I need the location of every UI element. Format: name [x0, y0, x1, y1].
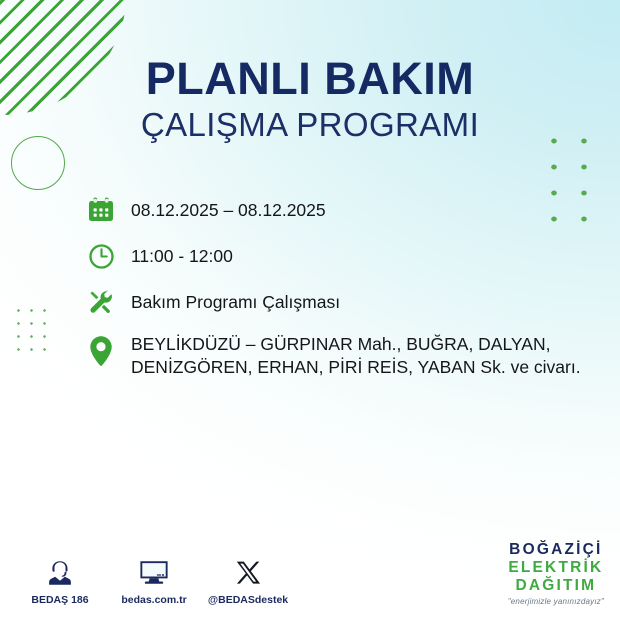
- page-title: PLANLI BAKIM ÇALIŞMA PROGRAMI: [0, 56, 620, 143]
- brand-line-dagitim: DAĞITIM: [508, 577, 604, 595]
- dot-grid-left-decoration: [10, 302, 56, 360]
- brand-line-elektrik: ELEKTRİK: [508, 559, 604, 577]
- time-range-text: 11:00 - 12:00: [131, 239, 233, 268]
- monitor-icon: [138, 555, 170, 587]
- contact-website[interactable]: bedas.com.tr: [118, 555, 190, 606]
- outage-details-list: 08.12.2025 – 08.12.2025 11:00 - 12:00: [84, 193, 604, 380]
- footer-contacts: BEDAŞ 186 bedas.com.tr: [24, 555, 284, 606]
- circle-outline-decoration: [11, 136, 65, 190]
- work-type-text: Bakım Programı Çalışması: [131, 285, 340, 314]
- info-row-address: BEYLİKDÜZÜ – GÜRPINAR Mah., BUĞRA, DALYA…: [84, 331, 604, 380]
- maintenance-announcement-poster: PLANLI BAKIM ÇALIŞMA PROGRAMI: [0, 0, 620, 620]
- info-row-work-type: Bakım Programı Çalışması: [84, 285, 604, 319]
- contact-phone[interactable]: BEDAŞ 186: [24, 555, 96, 606]
- contact-x-label: @BEDASdestek: [208, 594, 288, 606]
- info-row-time: 11:00 - 12:00: [84, 239, 604, 273]
- info-row-date: 08.12.2025 – 08.12.2025: [84, 193, 604, 227]
- title-main: PLANLI BAKIM: [0, 56, 620, 102]
- address-text: BEYLİKDÜZÜ – GÜRPINAR Mah., BUĞRA, DALYA…: [131, 331, 581, 380]
- contact-x-account[interactable]: @BEDASdestek: [212, 555, 284, 606]
- x-twitter-icon: [235, 555, 262, 587]
- date-range-text: 08.12.2025 – 08.12.2025: [131, 193, 326, 222]
- contact-phone-label: BEDAŞ 186: [31, 594, 88, 606]
- location-pin-icon: [84, 331, 118, 368]
- tools-icon: [84, 285, 118, 319]
- brand-logo: BOĞAZİÇİ ELEKTRİK DAĞITIM "enerjimizle y…: [508, 541, 604, 606]
- title-subtitle: ÇALIŞMA PROGRAMI: [0, 108, 620, 143]
- brand-line-bogazici: BOĞAZİÇİ: [508, 541, 604, 559]
- contact-website-label: bedas.com.tr: [121, 594, 186, 606]
- brand-tagline: "enerjimizle yanınızdayız": [508, 597, 604, 606]
- calendar-icon: [84, 193, 118, 227]
- clock-icon: [84, 239, 118, 273]
- support-headset-icon: [45, 555, 75, 587]
